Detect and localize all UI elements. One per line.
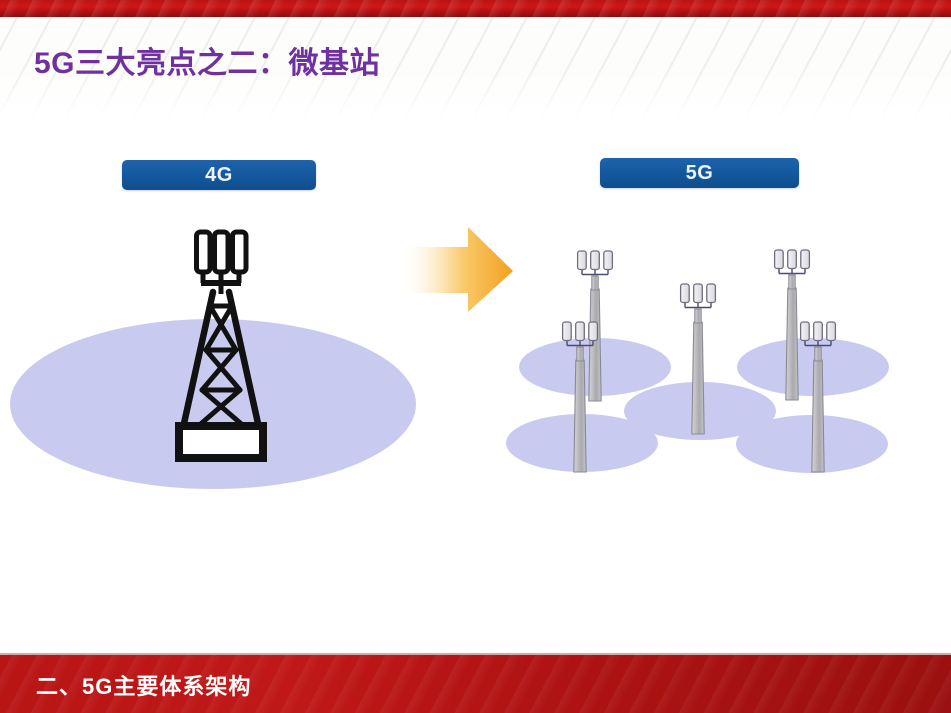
top-accent-band <box>0 0 951 17</box>
coverage-ellipse <box>624 382 776 440</box>
footer-section-title: 二、5G主要体系架构 <box>36 669 251 701</box>
micro-base-stations <box>563 250 836 472</box>
generation-label-4g: 4G <box>122 160 316 190</box>
generation-label-5g: 5G <box>600 158 799 188</box>
micro-base-station <box>801 322 836 472</box>
transition-arrow-icon <box>403 227 513 312</box>
coverage-ellipse <box>506 414 658 472</box>
macro-base-station-tower <box>179 232 263 458</box>
macro-coverage-ellipse <box>10 319 416 489</box>
presentation-slide: 5G三大亮点之二：微基站 <box>0 0 951 713</box>
micro-coverage-ellipses <box>506 338 889 473</box>
coverage-ellipse <box>737 338 889 396</box>
page-title: 5G三大亮点之二：微基站 <box>34 38 380 82</box>
coverage-ellipse <box>736 415 888 473</box>
coverage-ellipse <box>519 338 671 396</box>
micro-base-station <box>681 284 716 434</box>
micro-base-station <box>563 322 598 472</box>
micro-base-station <box>578 251 613 401</box>
top-band-sheen <box>0 0 951 17</box>
micro-base-station <box>775 250 810 400</box>
